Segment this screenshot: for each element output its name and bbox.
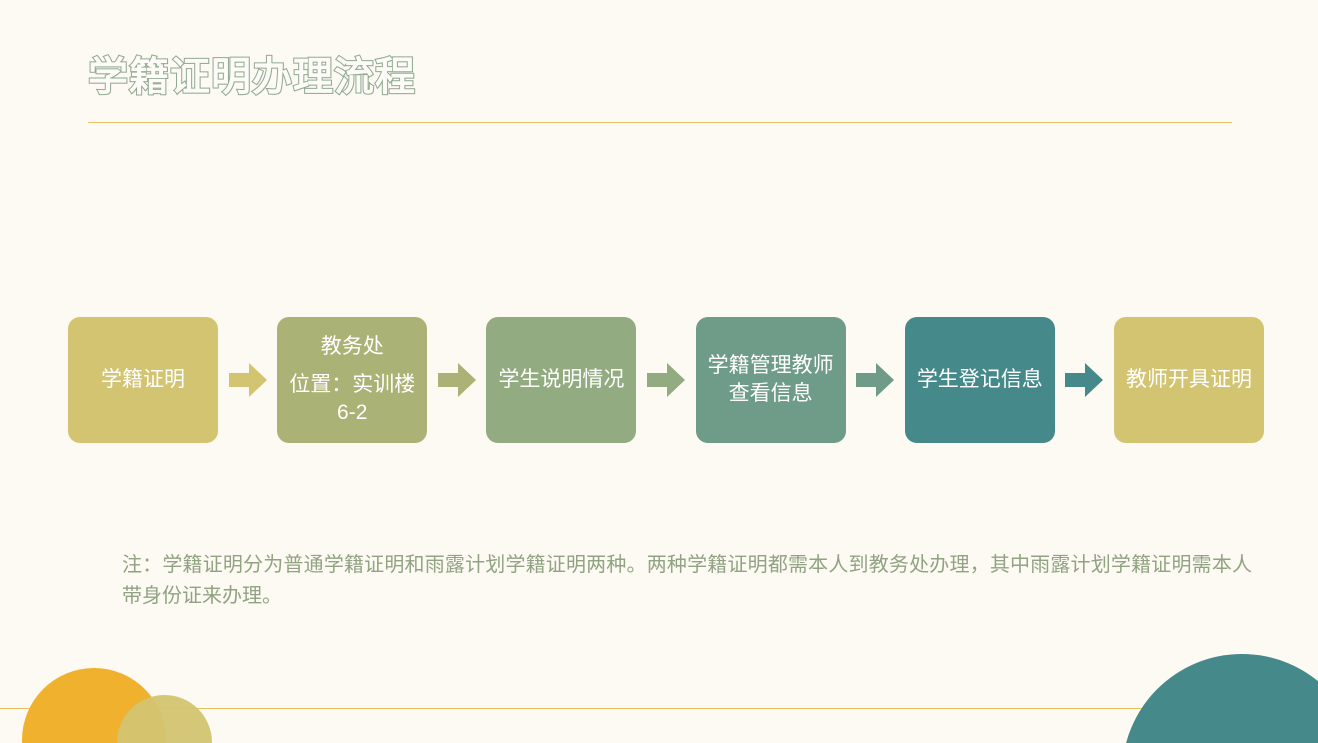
arrow-right-icon [854,360,896,400]
arrow-right-icon [1063,360,1105,400]
flow-arrow-4 [846,317,905,443]
slide-canvas: 学籍证明办理流程 学籍证明 教务处 位置：实训楼6-2 学生说明情况 [0,0,1318,743]
flow-node-1[interactable]: 学籍证明 [68,317,218,443]
flow-node-5[interactable]: 学生登记信息 [905,317,1055,443]
flow-arrow-5 [1055,317,1114,443]
flow-node-6-label: 教师开具证明 [1122,366,1256,394]
arrow-right-icon [227,360,269,400]
flow-node-4[interactable]: 学籍管理教师查看信息 [696,317,846,443]
note-text: 注：学籍证明分为普通学籍证明和雨露计划学籍证明两种。两种学籍证明都需本人到教务处… [122,550,1252,612]
flow-node-2-label-1: 教务处 [285,333,419,361]
flow-node-1-label: 学籍证明 [76,366,210,394]
flow-arrow-2 [427,317,486,443]
title-divider [88,122,1232,123]
flow-node-3-label: 学生说明情况 [494,366,628,394]
title-block: 学籍证明办理流程 [88,55,1232,99]
page-title: 学籍证明办理流程 [88,55,1232,99]
flow-arrow-1 [218,317,277,443]
flow-node-6[interactable]: 教师开具证明 [1114,317,1264,443]
process-flow-diagram: 学籍证明 教务处 位置：实训楼6-2 学生说明情况 学籍管理教师查看信息 [68,316,1264,444]
flow-node-3[interactable]: 学生说明情况 [486,317,636,443]
flow-node-2-label-2: 位置：实训楼6-2 [285,371,419,426]
flow-arrow-3 [636,317,695,443]
arrow-right-icon [436,360,478,400]
arrow-right-icon [645,360,687,400]
flow-node-4-label: 学籍管理教师查看信息 [704,352,838,407]
flow-node-2[interactable]: 教务处 位置：实训楼6-2 [277,317,427,443]
flow-node-5-label: 学生登记信息 [913,366,1047,394]
decorative-circle-teal [1122,654,1318,743]
